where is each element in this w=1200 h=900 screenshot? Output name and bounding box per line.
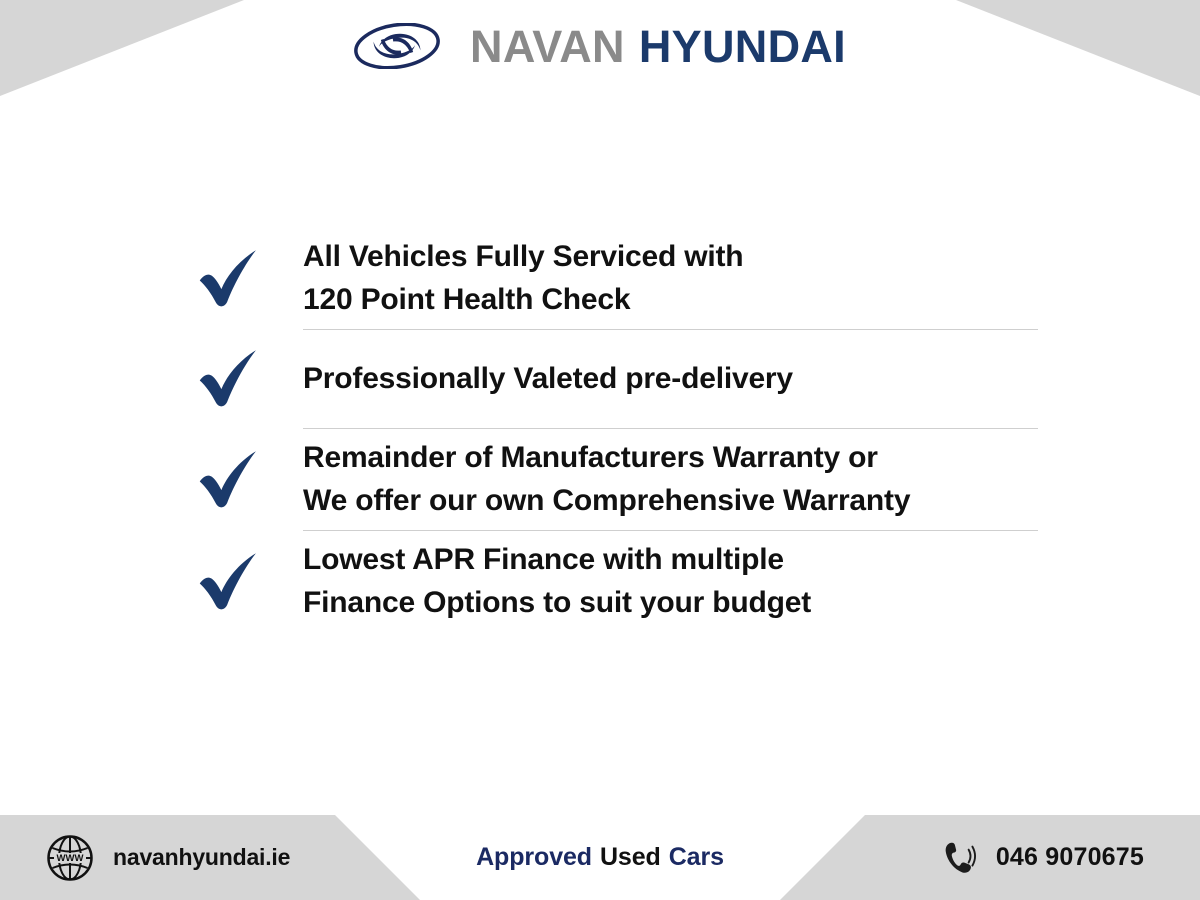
promo-banner: NAVAN HYUNDAI All Vehicles Fully Service… <box>0 0 1200 900</box>
footer-content: WWW navanhyundai.ie Approved Used Cars 0… <box>0 815 1200 900</box>
footer: WWW navanhyundai.ie Approved Used Cars 0… <box>0 815 1200 900</box>
list-item-line: Finance Options to suit your budget <box>303 582 811 625</box>
main-content: All Vehicles Fully Serviced with 120 Poi… <box>0 98 1200 815</box>
brand-hyundai: HYUNDAI <box>639 24 846 69</box>
phone-group[interactable]: 046 9070675 <box>942 815 1144 900</box>
check-cell <box>190 243 303 315</box>
phone-ringing-icon <box>942 838 980 878</box>
page-title: NAVAN HYUNDAI <box>470 24 846 69</box>
footer-approved-label: Approved <box>476 843 592 872</box>
brand-navan: NAVAN <box>470 24 625 69</box>
list-item: All Vehicles Fully Serviced with 120 Poi… <box>190 228 1050 329</box>
website-group[interactable]: WWW navanhyundai.ie <box>45 815 290 900</box>
check-mark-icon <box>194 243 266 315</box>
list-item-line: Professionally Valeted pre-delivery <box>303 358 793 401</box>
hyundai-emblem-icon <box>354 23 440 69</box>
check-cell <box>190 444 303 516</box>
check-cell <box>190 546 303 618</box>
check-mark-icon <box>194 444 266 516</box>
check-mark-icon <box>194 343 266 415</box>
list-item: Professionally Valeted pre-delivery <box>190 330 1050 428</box>
footer-cars-label: Cars <box>669 843 724 872</box>
list-item-text: All Vehicles Fully Serviced with 120 Poi… <box>303 236 743 321</box>
list-item-line: Lowest APR Finance with multiple <box>303 539 811 582</box>
list-item: Remainder of Manufacturers Warranty or W… <box>190 429 1050 530</box>
header: NAVAN HYUNDAI <box>0 0 1200 98</box>
list-item-text: Professionally Valeted pre-delivery <box>303 358 793 401</box>
brand-lockup: NAVAN HYUNDAI <box>0 0 1200 92</box>
list-item: Lowest APR Finance with multiple Finance… <box>190 531 1050 632</box>
check-cell <box>190 343 303 415</box>
list-item-text: Lowest APR Finance with multiple Finance… <box>303 539 811 624</box>
footer-used-label: Used <box>600 843 661 872</box>
globe-www-label: WWW <box>57 853 84 864</box>
globe-www-icon: WWW <box>45 833 95 883</box>
list-item-line: All Vehicles Fully Serviced with <box>303 236 743 279</box>
benefits-list: All Vehicles Fully Serviced with 120 Poi… <box>190 228 1050 633</box>
list-item-line: Remainder of Manufacturers Warranty or <box>303 437 910 480</box>
phone-number[interactable]: 046 9070675 <box>996 843 1144 872</box>
check-mark-icon <box>194 546 266 618</box>
list-item-line: 120 Point Health Check <box>303 279 743 322</box>
list-item-line: We offer our own Comprehensive Warranty <box>303 480 910 523</box>
list-item-text: Remainder of Manufacturers Warranty or W… <box>303 437 910 522</box>
website-link[interactable]: navanhyundai.ie <box>113 844 290 871</box>
